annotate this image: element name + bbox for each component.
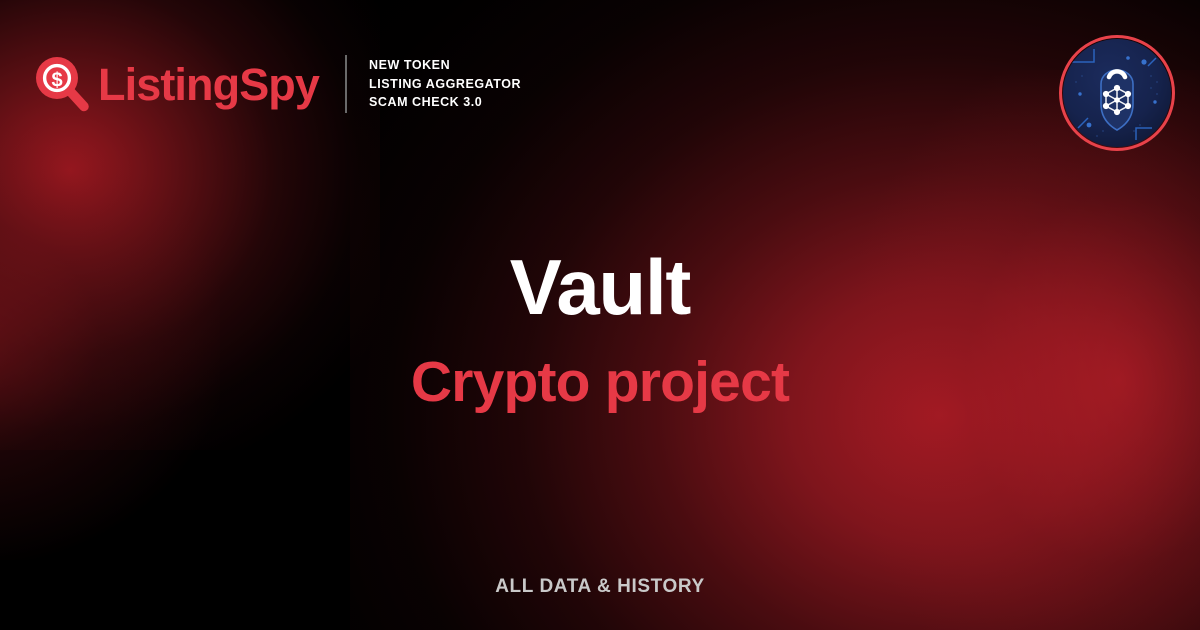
og-card: $ ListingSpy NEW TOKEN LISTING AGGREGATO…	[0, 0, 1200, 630]
project-subtitle: Crypto project	[0, 354, 1200, 411]
tagline: NEW TOKEN LISTING AGGREGATOR SCAM CHECK …	[369, 57, 521, 111]
tagline-line-2: LISTING AGGREGATOR	[369, 76, 521, 93]
footer-note: ALL DATA & HISTORY	[0, 576, 1200, 598]
header-divider	[345, 55, 347, 113]
tagline-line-3: SCAM CHECK 3.0	[369, 94, 521, 111]
wordmark-listing: Listing	[98, 59, 239, 110]
wordmark-spy: Spy	[239, 59, 319, 110]
tagline-line-1: NEW TOKEN	[369, 57, 521, 74]
project-badge[interactable]	[1056, 32, 1178, 154]
project-title: Vault	[0, 248, 1200, 326]
magnifier-dollar-logo-icon: $	[34, 55, 92, 113]
header: $ ListingSpy NEW TOKEN LISTING AGGREGATO…	[34, 55, 521, 113]
crypto-lock-network-badge-icon	[1056, 32, 1178, 154]
listingspy-wordmark: ListingSpy	[98, 62, 319, 107]
project-headline: Vault Crypto project	[0, 248, 1200, 411]
svg-text:$: $	[51, 69, 62, 91]
listingspy-logo[interactable]: $ ListingSpy	[34, 55, 319, 113]
